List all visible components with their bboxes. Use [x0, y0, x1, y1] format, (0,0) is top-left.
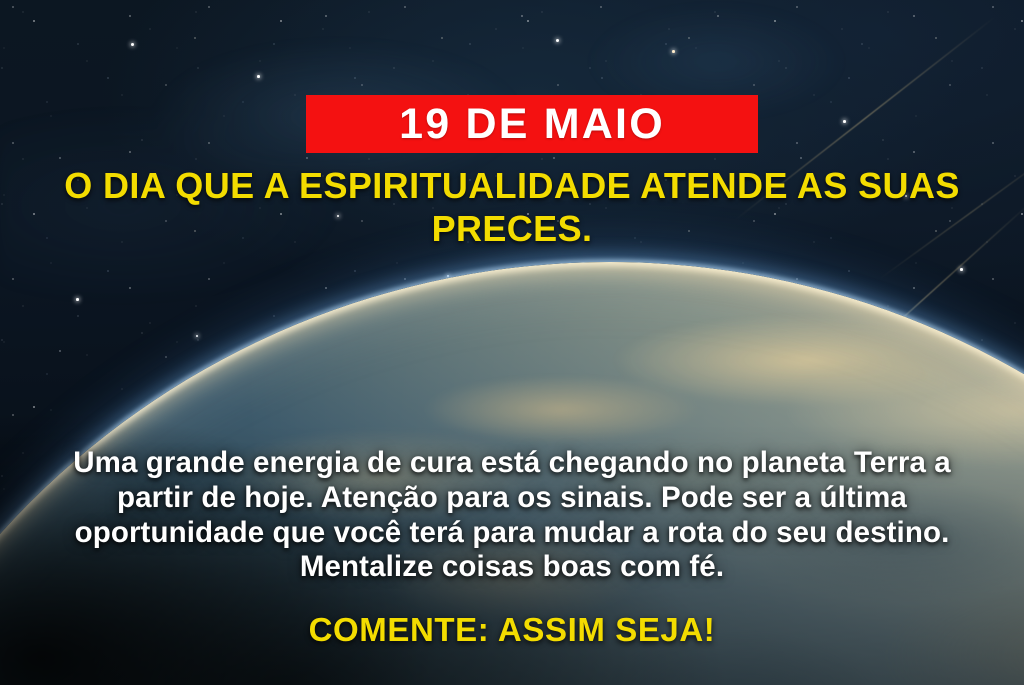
poster-image: 19 DE MAIO O DIA QUE A ESPIRITUALIDADE A…	[0, 0, 1024, 685]
date-banner: 19 DE MAIO	[306, 95, 758, 153]
call-to-action-text: COMENTE: ASSIM SEJA!	[0, 612, 1024, 648]
headline-text: O DIA QUE A ESPIRITUALIDADE ATENDE AS SU…	[0, 165, 1024, 251]
body-paragraph: Uma grande energia de cura está chegando…	[0, 446, 1024, 585]
date-banner-label: 19 DE MAIO	[399, 103, 665, 146]
poster-content: 19 DE MAIO O DIA QUE A ESPIRITUALIDADE A…	[0, 0, 1024, 685]
